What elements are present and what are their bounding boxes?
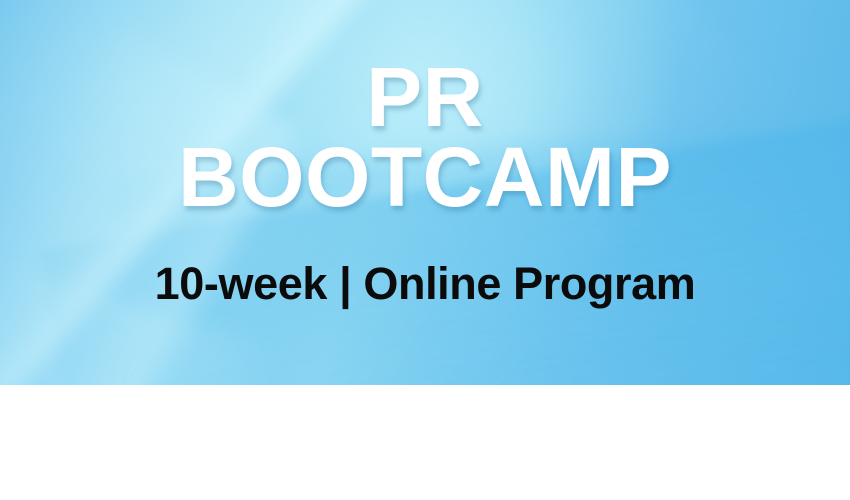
- poster-canvas: PR BOOTCAMP 10-week | Online Program: [0, 0, 850, 500]
- white-content-area: [0, 385, 850, 500]
- headline-line-2: BOOTCAMP: [178, 138, 672, 218]
- hero-banner: PR BOOTCAMP 10-week | Online Program: [0, 0, 850, 385]
- headline-line-1: PR: [366, 58, 484, 138]
- banner-subtitle: 10-week | Online Program: [155, 260, 696, 307]
- banner-text-stack: PR BOOTCAMP 10-week | Online Program: [0, 0, 850, 385]
